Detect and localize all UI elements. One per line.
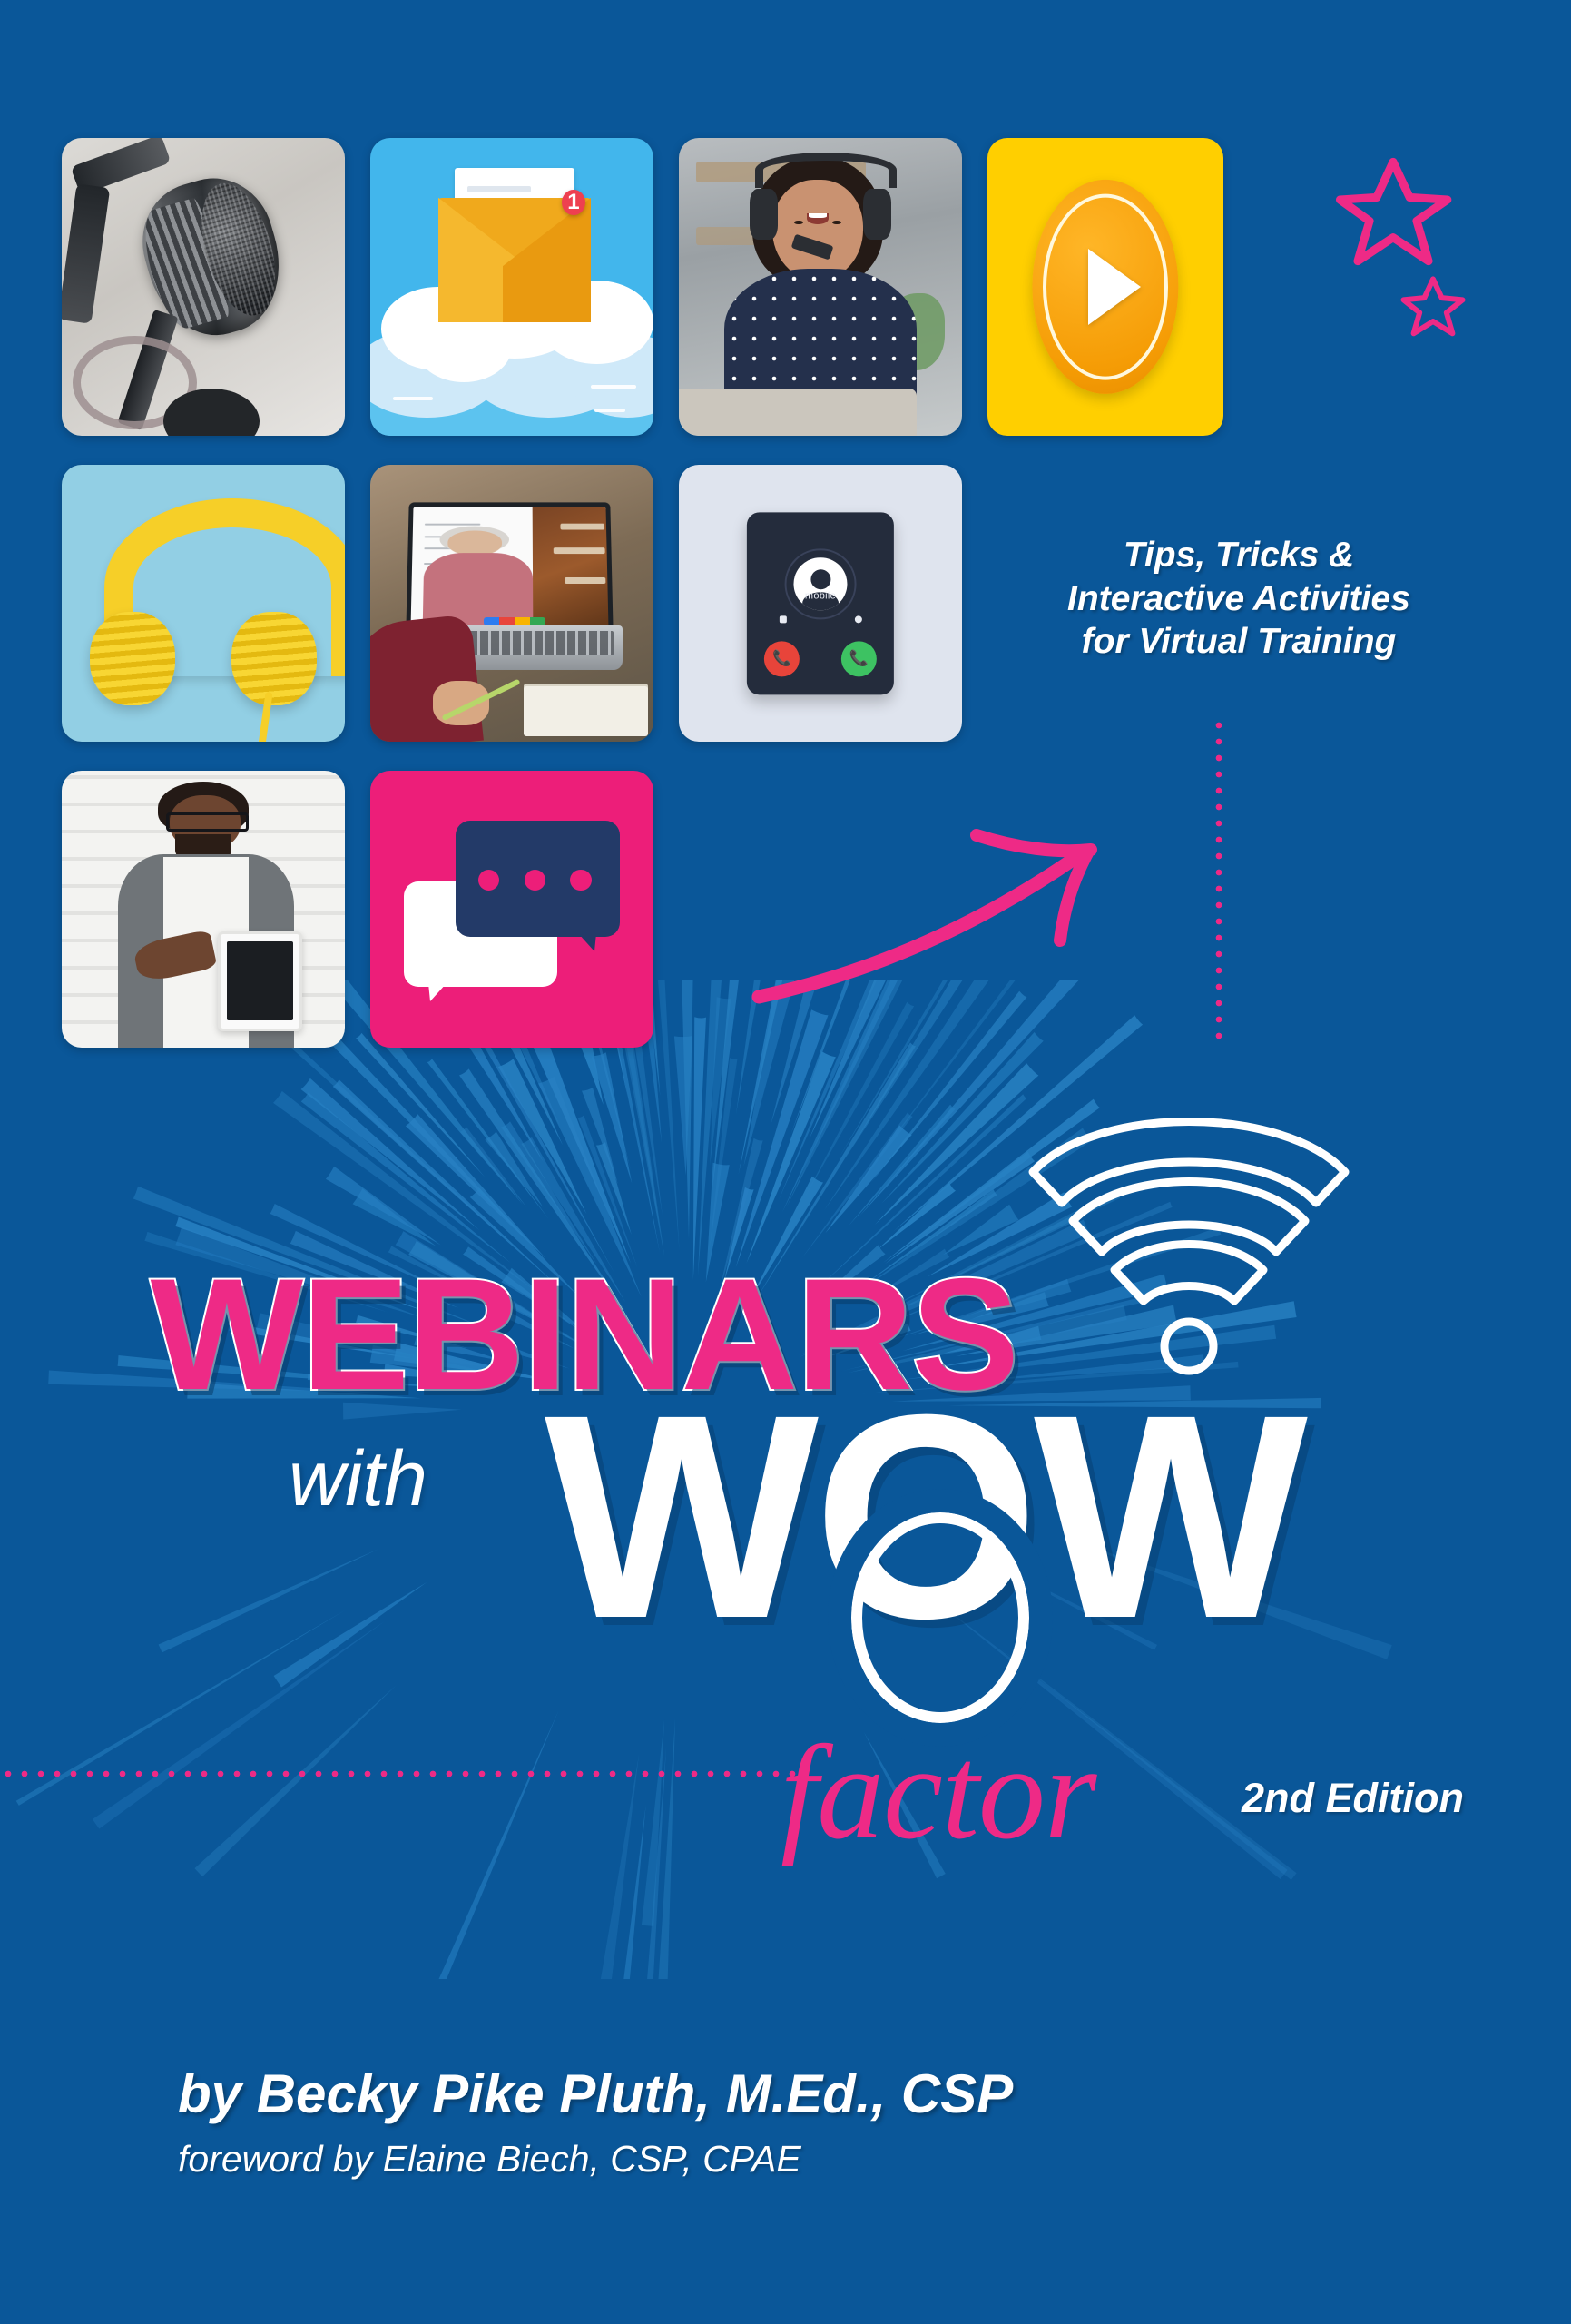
dotted-line-horizontal xyxy=(0,1768,799,1779)
message-icon xyxy=(854,616,861,624)
book-cover: @ 1 xyxy=(0,0,1571,2324)
tile-email-cloud-illustration: @ 1 xyxy=(370,138,653,436)
avatar xyxy=(794,557,847,610)
title-wow: WOW xyxy=(545,1371,1302,1661)
face xyxy=(772,180,863,281)
subtitle-line-2: Interactive Activities xyxy=(1030,577,1448,621)
phone-body: mobile 📞 📞 xyxy=(747,512,894,694)
tile-laptop-online-class-photo xyxy=(370,465,653,742)
teacher-body xyxy=(422,553,533,625)
dotted-line-vertical xyxy=(1213,717,1224,1039)
laptop-foreground xyxy=(679,389,917,436)
play-triangle-icon xyxy=(1088,249,1141,325)
curved-arrow-up-right-icon xyxy=(744,799,1125,1017)
tile-chat-bubbles-illustration xyxy=(370,771,653,1048)
chat-bubble-navy xyxy=(456,821,620,937)
caller-label: mobile xyxy=(747,590,894,601)
tile-yellow-headphones-photo xyxy=(62,465,345,742)
glasses-icon xyxy=(166,812,248,832)
author-credit: by Becky Pike Pluth, M.Ed., CSP xyxy=(178,2063,1013,2125)
tile-incoming-call-illustration: mobile 📞 📞 xyxy=(679,465,962,742)
video-call-controls xyxy=(484,617,546,625)
tile-play-button-illustration xyxy=(987,138,1223,436)
subtitle-line-1: Tips, Tricks & xyxy=(1030,534,1448,577)
edition-label: 2nd Edition xyxy=(1242,1775,1464,1822)
title-factor: factor xyxy=(781,1716,1096,1870)
accept-call-button[interactable]: 📞 xyxy=(841,641,877,676)
tablet-device xyxy=(218,931,302,1031)
headphone-cup-right xyxy=(231,612,317,706)
reminder-icon xyxy=(780,616,787,624)
decline-call-button[interactable]: 📞 xyxy=(764,641,800,676)
title-with: with xyxy=(289,1434,427,1524)
subtitle-line-3: for Virtual Training xyxy=(1030,620,1448,664)
mic-arm-secondary-icon xyxy=(62,184,111,325)
laptop-lid xyxy=(406,502,613,635)
foreword-credit: foreword by Elaine Biech, CSP, CPAE xyxy=(178,2138,801,2181)
tile-man-tablet-photo xyxy=(62,771,345,1048)
headset-band-icon xyxy=(755,153,896,188)
tile-woman-headset-laptop-photo xyxy=(679,138,962,436)
teacher-face xyxy=(447,530,501,555)
avatar-ring xyxy=(785,548,857,620)
cover-subtitle: Tips, Tricks & Interactive Activities fo… xyxy=(1030,534,1448,664)
notebook xyxy=(524,686,648,736)
wifi-signal-icon xyxy=(1016,1085,1361,1384)
tile-podcast-microphone-photo xyxy=(62,138,345,436)
envelope-icon: @ 1 xyxy=(438,198,591,323)
notification-badge: 1 xyxy=(562,190,584,215)
bookshelf-background xyxy=(532,507,607,630)
star-outline-small-icon xyxy=(1399,272,1467,340)
headphone-cup-left xyxy=(90,612,175,706)
star-outline-large-icon xyxy=(1334,153,1452,271)
polka-dot-shirt xyxy=(724,269,917,406)
laptop-screen xyxy=(410,507,608,630)
